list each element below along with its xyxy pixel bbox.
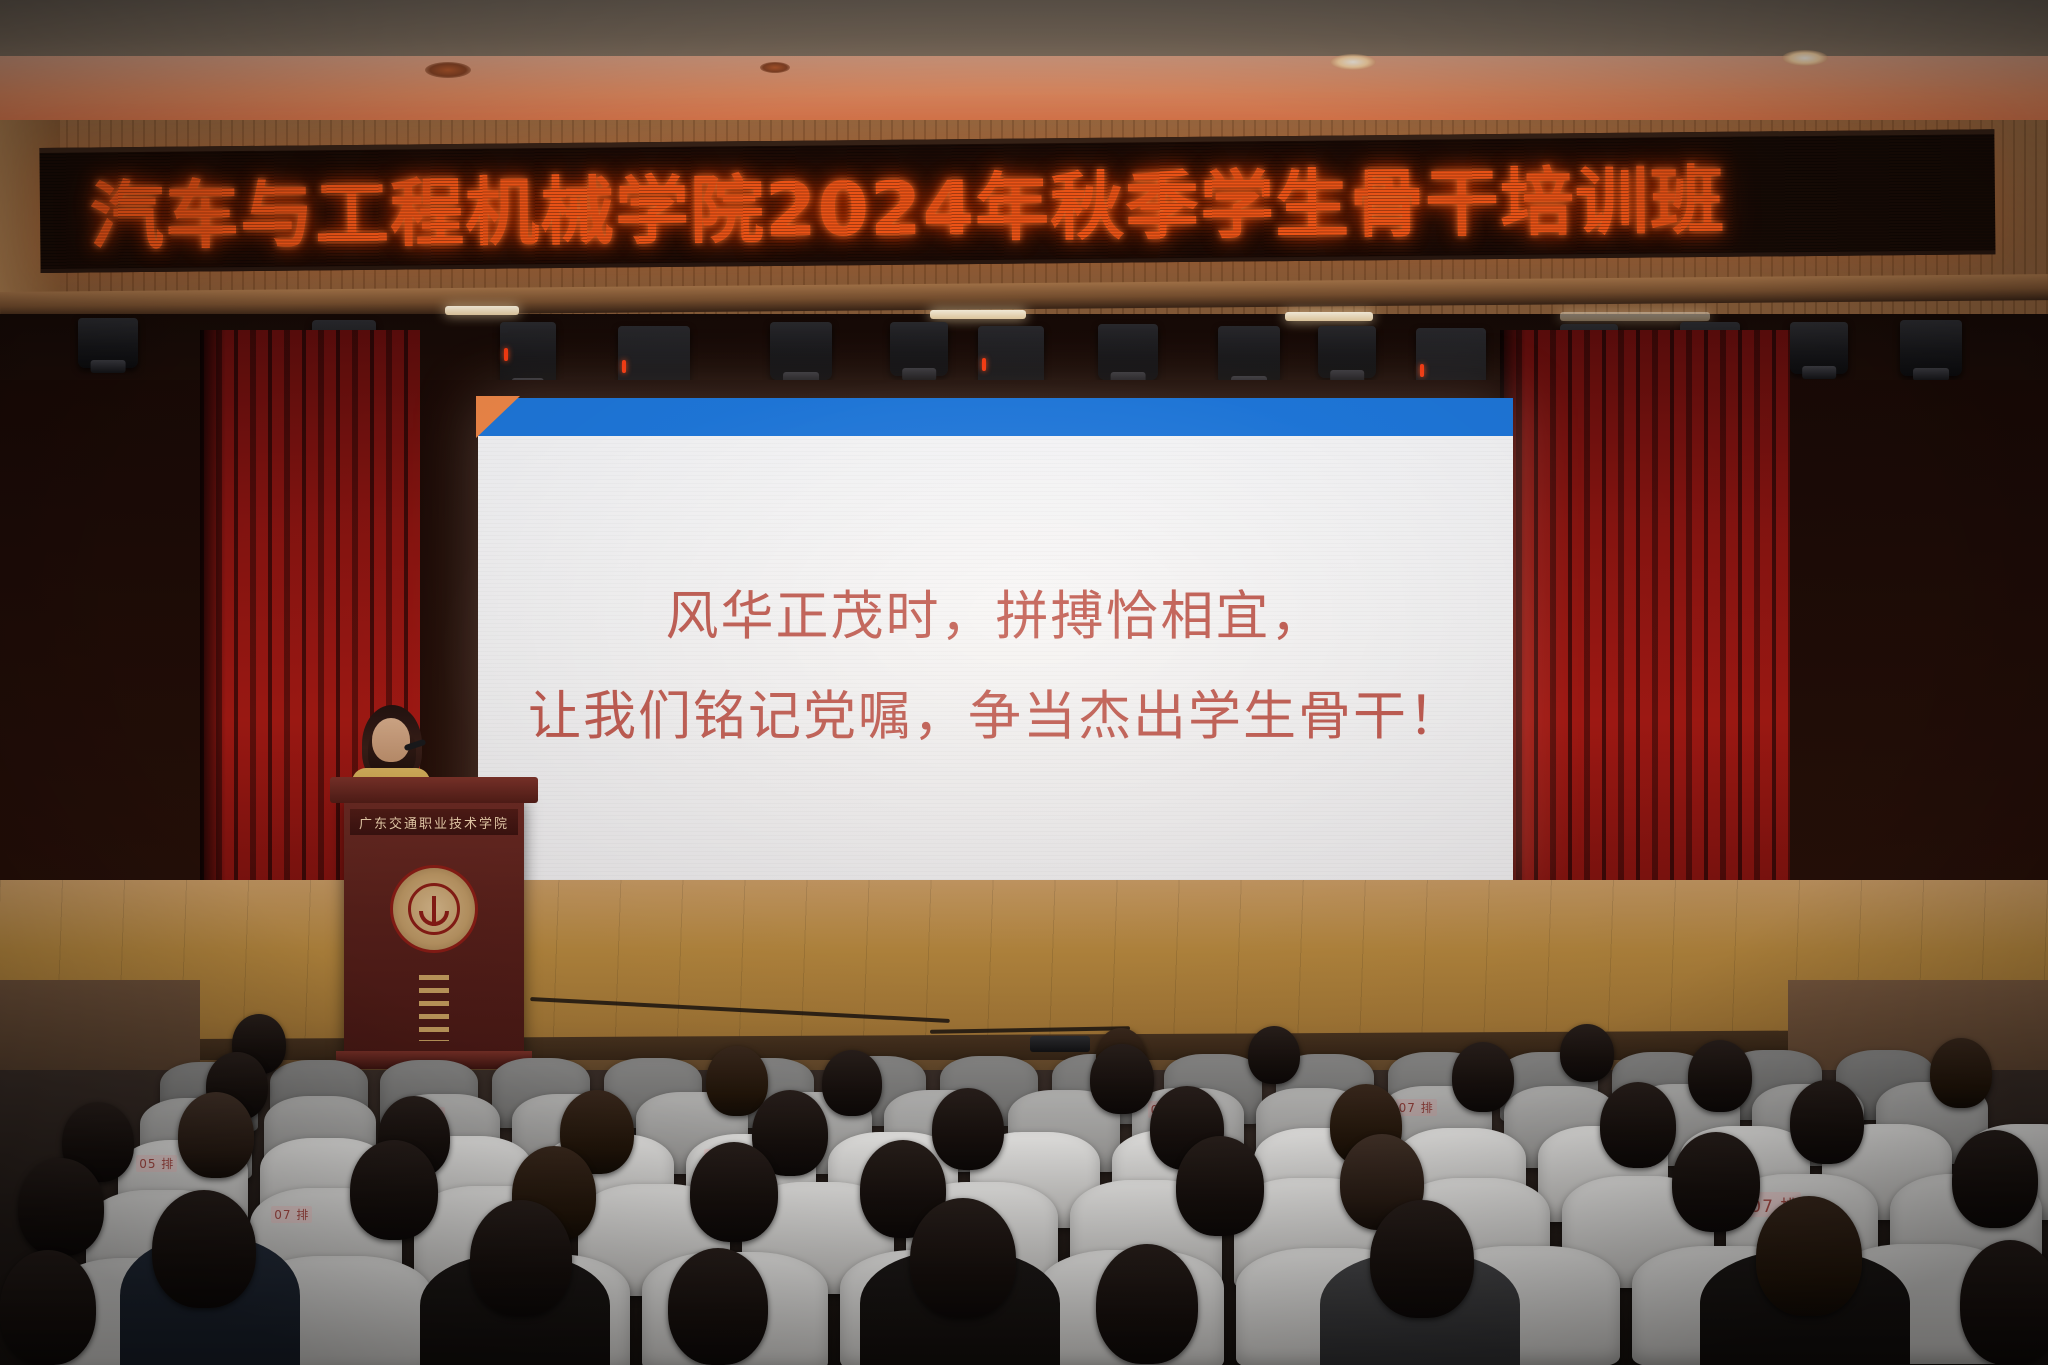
ceiling-downlight-icon	[425, 62, 471, 78]
crest-anchor-arc	[419, 911, 449, 926]
speaker-head	[372, 718, 410, 762]
ceiling-light-strip	[445, 306, 519, 315]
audience-head	[0, 1250, 96, 1365]
screen-scanline-texture	[478, 436, 1513, 888]
moving-head-light	[1790, 322, 1848, 374]
audience-head	[1096, 1244, 1198, 1364]
audience-head	[470, 1200, 572, 1316]
audience-head	[1930, 1038, 1992, 1108]
audience-head	[350, 1140, 438, 1240]
seat-row-tag: 07 排	[1396, 1099, 1437, 1116]
audience-head	[706, 1046, 768, 1116]
light-indicator-icon	[504, 348, 508, 361]
audience-head	[910, 1198, 1016, 1318]
audience-head	[822, 1050, 882, 1116]
moving-head-light	[890, 322, 948, 376]
light-indicator-icon	[622, 360, 626, 373]
slide-line-2: 让我们铭记党嘱，争当杰出学生骨干！	[478, 688, 1513, 746]
audience-head	[1672, 1132, 1760, 1232]
podium: 广东交通职业技术学院	[344, 795, 524, 1055]
moving-head-light	[1900, 320, 1962, 376]
ceiling-light-strip	[930, 310, 1026, 319]
led-banner: 汽车与工程机械学院2024年秋季学生骨干培训班	[39, 129, 1995, 273]
audience-head	[668, 1248, 768, 1365]
audience-head	[1248, 1026, 1300, 1084]
audience-head	[932, 1088, 1004, 1170]
audience-head	[1756, 1196, 1862, 1316]
slide-body: 风华正茂时，拼搏恰相宜， 让我们铭记党嘱，争当杰出学生骨干！	[478, 436, 1513, 888]
audience-head	[178, 1092, 254, 1178]
audience-head	[690, 1142, 778, 1242]
light-indicator-icon	[982, 358, 986, 371]
ceiling-downlight-icon	[1330, 54, 1376, 70]
led-banner-text: 汽车与工程机械学院2024年秋季学生骨干培训班	[89, 141, 1725, 264]
audience-head	[1790, 1080, 1864, 1164]
moving-head-light	[1318, 326, 1376, 378]
slide-accent-triangle-icon	[476, 396, 520, 438]
light-lens-icon	[1802, 366, 1836, 379]
seat-row-tag: 05 排	[136, 1155, 177, 1172]
audience-head	[1452, 1042, 1514, 1112]
audience-head	[1370, 1200, 1474, 1318]
ceiling-panel	[0, 0, 2048, 62]
audience-head	[18, 1158, 104, 1256]
ceiling-downlight-icon	[760, 62, 790, 73]
moving-head-light	[500, 322, 556, 386]
seat-row-tag: 07 排	[271, 1206, 312, 1223]
moving-head-light	[78, 318, 138, 368]
podium-nameplate: 广东交通职业技术学院	[350, 809, 518, 835]
moving-head-light	[770, 322, 832, 380]
stage-floor-monitor	[1030, 1036, 1090, 1052]
audience-head	[152, 1190, 256, 1308]
school-crest-icon	[390, 865, 478, 953]
audience-head	[1176, 1136, 1264, 1236]
ceiling-light-strip	[1285, 312, 1373, 321]
slide-header-bar	[478, 398, 1513, 436]
audience-head	[1952, 1130, 2038, 1228]
ceiling-light-strip	[1560, 312, 1710, 321]
moving-head-light	[1218, 326, 1280, 384]
light-lens-icon	[91, 360, 126, 373]
podium-institution-text: 广东交通职业技术学院	[359, 813, 509, 832]
auditorium-photo: 汽车与工程机械学院2024年秋季学生骨干培训班 风华正茂时，拼搏恰相宜， 让我们…	[0, 0, 2048, 1365]
podium-top-ledge	[330, 777, 538, 803]
moving-head-light	[1098, 324, 1158, 380]
audience-head	[1960, 1240, 2048, 1365]
audience-head	[1600, 1082, 1676, 1168]
crest-inner-ring	[408, 883, 460, 935]
projection-screen: 风华正茂时，拼搏恰相宜， 让我们铭记党嘱，争当杰出学生骨干！	[478, 398, 1513, 888]
audience-head	[1090, 1044, 1154, 1114]
podium-ribs	[419, 975, 449, 1041]
ceiling-downlight-icon	[1782, 50, 1828, 66]
audience-head	[1688, 1040, 1752, 1112]
light-indicator-icon	[1420, 364, 1424, 377]
audience-head	[1560, 1024, 1614, 1082]
slide-line-1: 风华正茂时，拼搏恰相宜，	[478, 588, 1513, 646]
